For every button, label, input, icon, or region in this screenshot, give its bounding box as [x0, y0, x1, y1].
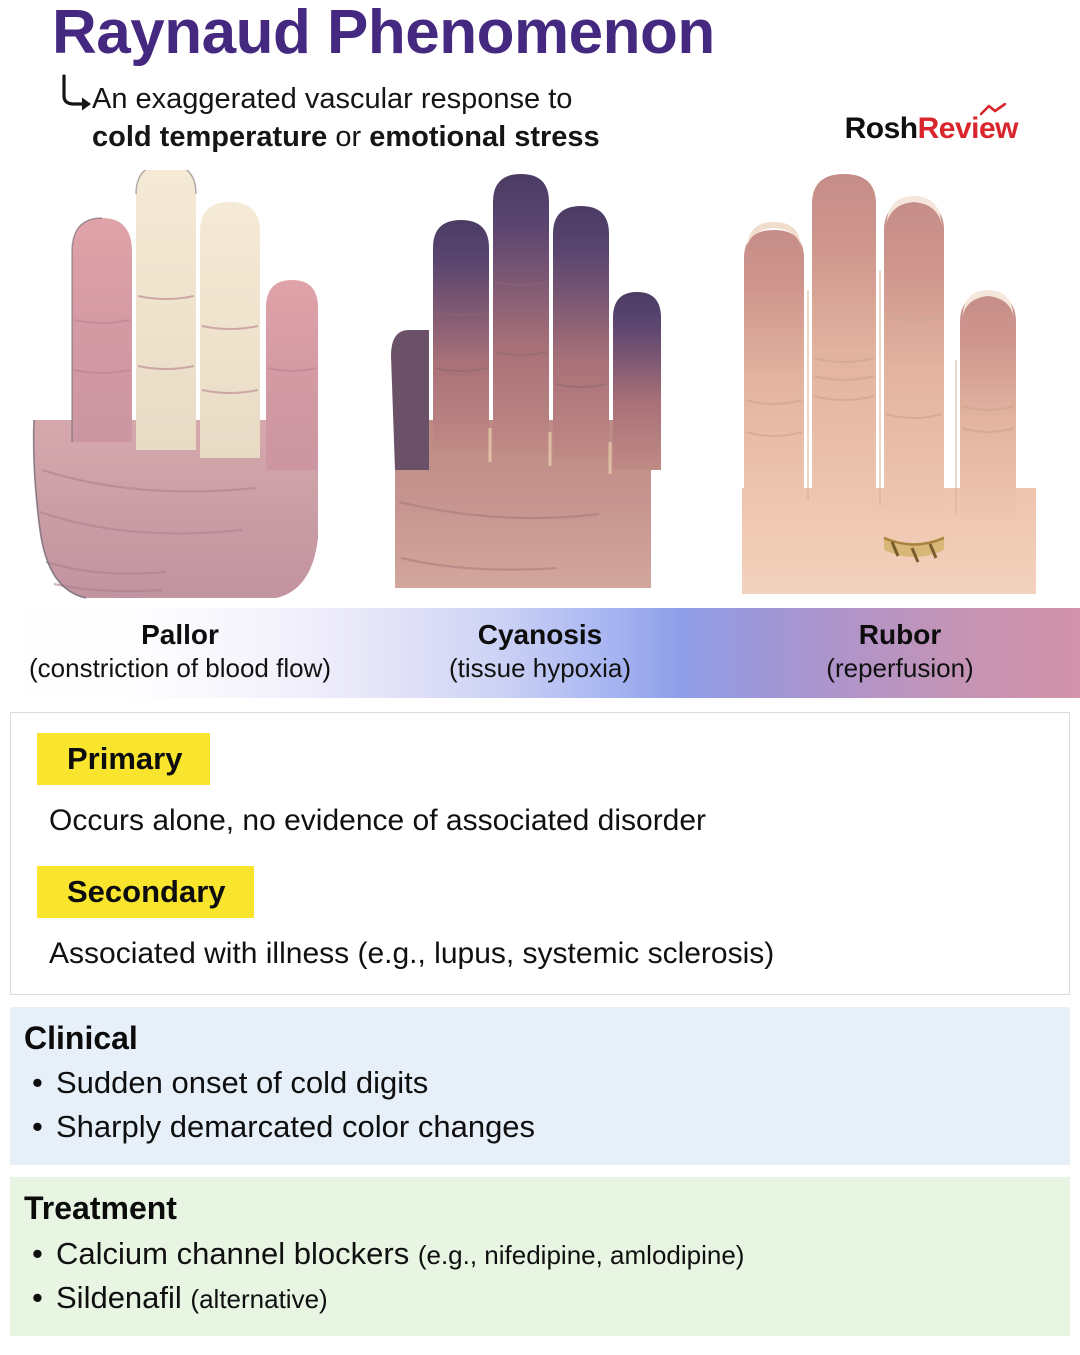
bullet-icon: • — [32, 1105, 43, 1149]
logo-text-review: Review — [918, 112, 1018, 145]
list-item: •Sudden onset of cold digits — [30, 1061, 1070, 1105]
subtitle-line-1: An exaggerated vascular response to — [92, 80, 600, 118]
clinical-list: •Sudden onset of cold digits •Sharply de… — [10, 1061, 1070, 1149]
phase-caption-pallor: Pallor (constriction of blood flow) — [0, 608, 360, 698]
list-item: •Calcium channel blockers (e.g., nifedip… — [30, 1232, 1070, 1276]
classification-card: Primary Occurs alone, no evidence of ass… — [10, 712, 1070, 995]
phase-subtitle-cyanosis: (tissue hypoxia) — [360, 653, 720, 684]
corner-down-right-arrow-icon — [58, 74, 92, 114]
page-title: Raynaud Phenomenon — [52, 2, 715, 64]
hand-photo-cyanosis — [389, 170, 661, 590]
bullet-icon: • — [32, 1061, 43, 1105]
phase-gradient-band: Pallor (constriction of blood flow) Cyan… — [0, 608, 1080, 698]
phase-subtitle-rubor: (reperfusion) — [720, 653, 1080, 684]
treatment-item-text: Calcium channel blockers — [56, 1236, 418, 1271]
treatment-item-paren: (alternative) — [190, 1284, 327, 1314]
primary-description: Occurs alone, no evidence of associated … — [49, 802, 1069, 840]
treatment-heading: Treatment — [24, 1189, 1070, 1227]
clinical-heading: Clinical — [24, 1019, 1070, 1057]
clinical-panel: Clinical •Sudden onset of cold digits •S… — [10, 1007, 1070, 1165]
list-item: •Sharply demarcated color changes — [30, 1105, 1070, 1149]
bullet-icon: • — [32, 1232, 43, 1276]
secondary-description: Associated with illness (e.g., lupus, sy… — [49, 935, 1069, 973]
phase-title-cyanosis: Cyanosis — [360, 618, 720, 651]
phase-caption-cyanosis: Cyanosis (tissue hypoxia) — [360, 608, 720, 698]
subtitle-bold-cold: cold temperature — [92, 121, 327, 153]
logo-text-rosh: Rosh — [845, 112, 918, 145]
treatment-list: •Calcium channel blockers (e.g., nifedip… — [10, 1232, 1070, 1320]
treatment-item-text: Sildenafil — [56, 1280, 190, 1315]
treatment-panel: Treatment •Calcium channel blockers (e.g… — [10, 1177, 1070, 1335]
subtitle-lines: An exaggerated vascular response to cold… — [92, 80, 600, 157]
header: Raynaud Phenomenon An exaggerated vascul… — [0, 0, 1080, 168]
clinical-item-text: Sharply demarcated color changes — [56, 1109, 535, 1144]
phase-subtitle-pallor: (constriction of blood flow) — [0, 653, 360, 684]
bullet-icon: • — [32, 1276, 43, 1320]
hand-photo-row — [0, 170, 1080, 608]
phase-caption-rubor: Rubor (reperfusion) — [720, 608, 1080, 698]
subtitle-bold-stress: emotional stress — [369, 121, 599, 153]
list-item: •Sildenafil (alternative) — [30, 1276, 1070, 1320]
phase-title-rubor: Rubor — [720, 618, 1080, 651]
clinical-item-text: Sudden onset of cold digits — [56, 1065, 428, 1100]
badge-secondary: Secondary — [37, 866, 254, 918]
roshreview-logo[interactable]: RoshReview — [845, 112, 1018, 146]
subtitle-line-2: cold temperature or emotional stress — [92, 118, 600, 156]
badge-primary: Primary — [37, 733, 210, 785]
phase-title-pallor: Pallor — [0, 618, 360, 651]
hand-photo-pallor — [26, 170, 346, 600]
subtitle-conjunction: or — [327, 121, 369, 153]
hand-photo-rubor — [716, 170, 1064, 598]
check-swoosh-icon — [980, 103, 1006, 117]
treatment-item-paren: (e.g., nifedipine, amlodipine) — [418, 1240, 745, 1270]
subtitle-block: An exaggerated vascular response to cold… — [58, 80, 600, 157]
